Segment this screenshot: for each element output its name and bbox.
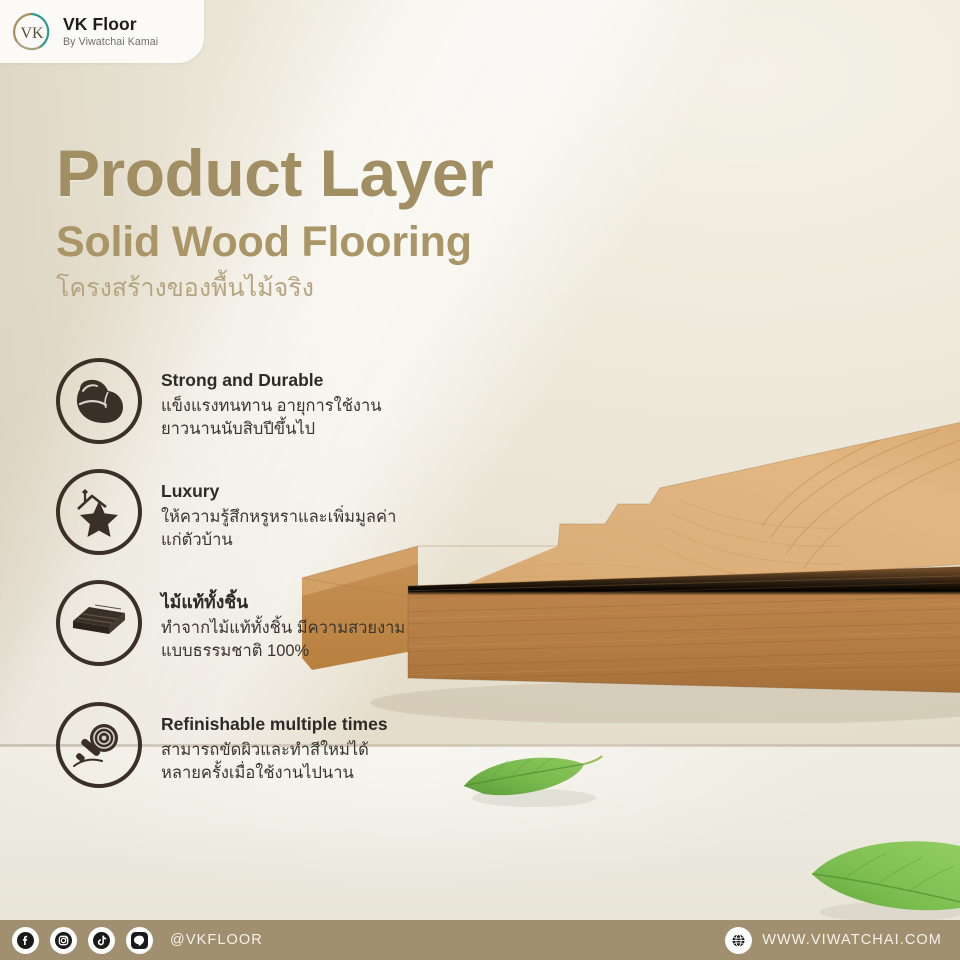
logo-subtitle: By Viwatchai Kamai xyxy=(63,37,158,48)
feature-description-line: หลายครั้งเมื่อใช้งานไปนาน xyxy=(161,762,388,785)
bicep-muscle-icon xyxy=(56,358,142,444)
feature-list: Strong and Durable แข็งแรงทนทาน อายุการใ… xyxy=(56,358,436,813)
leaf-decoration-left xyxy=(460,752,606,816)
feature-description-line: แก่ตัวบ้าน xyxy=(161,529,396,552)
feature-description-line: สามารถขัดผิวและทำสีใหม่ได้ xyxy=(161,739,388,762)
feature-description: สามารถขัดผิวและทำสีใหม่ได้ หลายครั้งเมื่… xyxy=(161,739,388,786)
feature-item-strong-durable: Strong and Durable แข็งแรงทนทาน อายุการใ… xyxy=(56,358,436,444)
feature-title: Strong and Durable xyxy=(161,370,382,392)
house-star-icon xyxy=(56,469,142,555)
leaf-decoration-right xyxy=(800,836,960,926)
feature-title: ไม้แท้ทั้งชิ้น xyxy=(161,592,405,614)
footer-social-group: @VKFLOOR xyxy=(12,927,263,954)
page-title: Product Layer xyxy=(56,140,493,206)
headline-block: Product Layer Solid Wood Flooring โครงสร… xyxy=(56,140,493,305)
feature-description-line: ให้ความรู้สึกหรูหราและเพิ่มมูลค่า xyxy=(161,506,396,529)
feature-description-line: แบบธรรมชาติ 100% xyxy=(161,640,405,663)
wood-planks-icon xyxy=(56,580,142,666)
logo-badge[interactable]: VK VK Floor By Viwatchai Kamai xyxy=(0,0,204,63)
globe-icon xyxy=(725,927,752,954)
feature-description-line: ยาวนานนับสิบปีขึ้นไป xyxy=(161,418,382,441)
feature-description: แข็งแรงทนทาน อายุการใช้งาน ยาวนานนับสิบป… xyxy=(161,395,382,442)
instagram-icon[interactable] xyxy=(50,927,77,954)
feature-item-solid-wood: ไม้แท้ทั้งชิ้น ทำจากไม้แท้ทั้งชิ้น มีควา… xyxy=(56,580,436,666)
feature-item-luxury: Luxury ให้ความรู้สึกหรูหราและเพิ่มมูลค่า… xyxy=(56,469,436,555)
feature-description-line: ทำจากไม้แท้ทั้งชิ้น มีความสวยงาม xyxy=(161,617,405,640)
svg-text:VK: VK xyxy=(20,25,44,42)
social-handle: @VKFLOOR xyxy=(170,932,263,948)
footer-bar: @VKFLOOR WWW.VIWATCHAI.COM xyxy=(0,920,960,960)
feature-title: Luxury xyxy=(161,481,396,503)
logo-title: VK Floor xyxy=(63,15,158,33)
feature-description: ให้ความรู้สึกหรูหราและเพิ่มมูลค่า แก่ตัว… xyxy=(161,506,396,553)
page-subtitle-thai: โครงสร้างของพื้นไม้จริง xyxy=(56,273,493,304)
facebook-icon[interactable] xyxy=(12,927,39,954)
footer-website-group[interactable]: WWW.VIWATCHAI.COM xyxy=(725,927,942,954)
feature-item-refinishable: Refinishable multiple times สามารถขัดผิว… xyxy=(56,702,436,788)
floor-sander-icon xyxy=(56,702,142,788)
page-subtitle: Solid Wood Flooring xyxy=(56,218,493,267)
feature-description: ทำจากไม้แท้ทั้งชิ้น มีความสวยงาม แบบธรรม… xyxy=(161,617,405,664)
feature-description-line: แข็งแรงทนทาน อายุการใช้งาน xyxy=(161,395,382,418)
infographic-canvas: VK VK Floor By Viwatchai Kamai Product L… xyxy=(0,0,960,960)
feature-title: Refinishable multiple times xyxy=(161,714,388,736)
vk-circle-logo-icon: VK xyxy=(10,10,54,54)
line-icon[interactable] xyxy=(126,927,153,954)
website-url: WWW.VIWATCHAI.COM xyxy=(762,932,942,948)
tiktok-icon[interactable] xyxy=(88,927,115,954)
